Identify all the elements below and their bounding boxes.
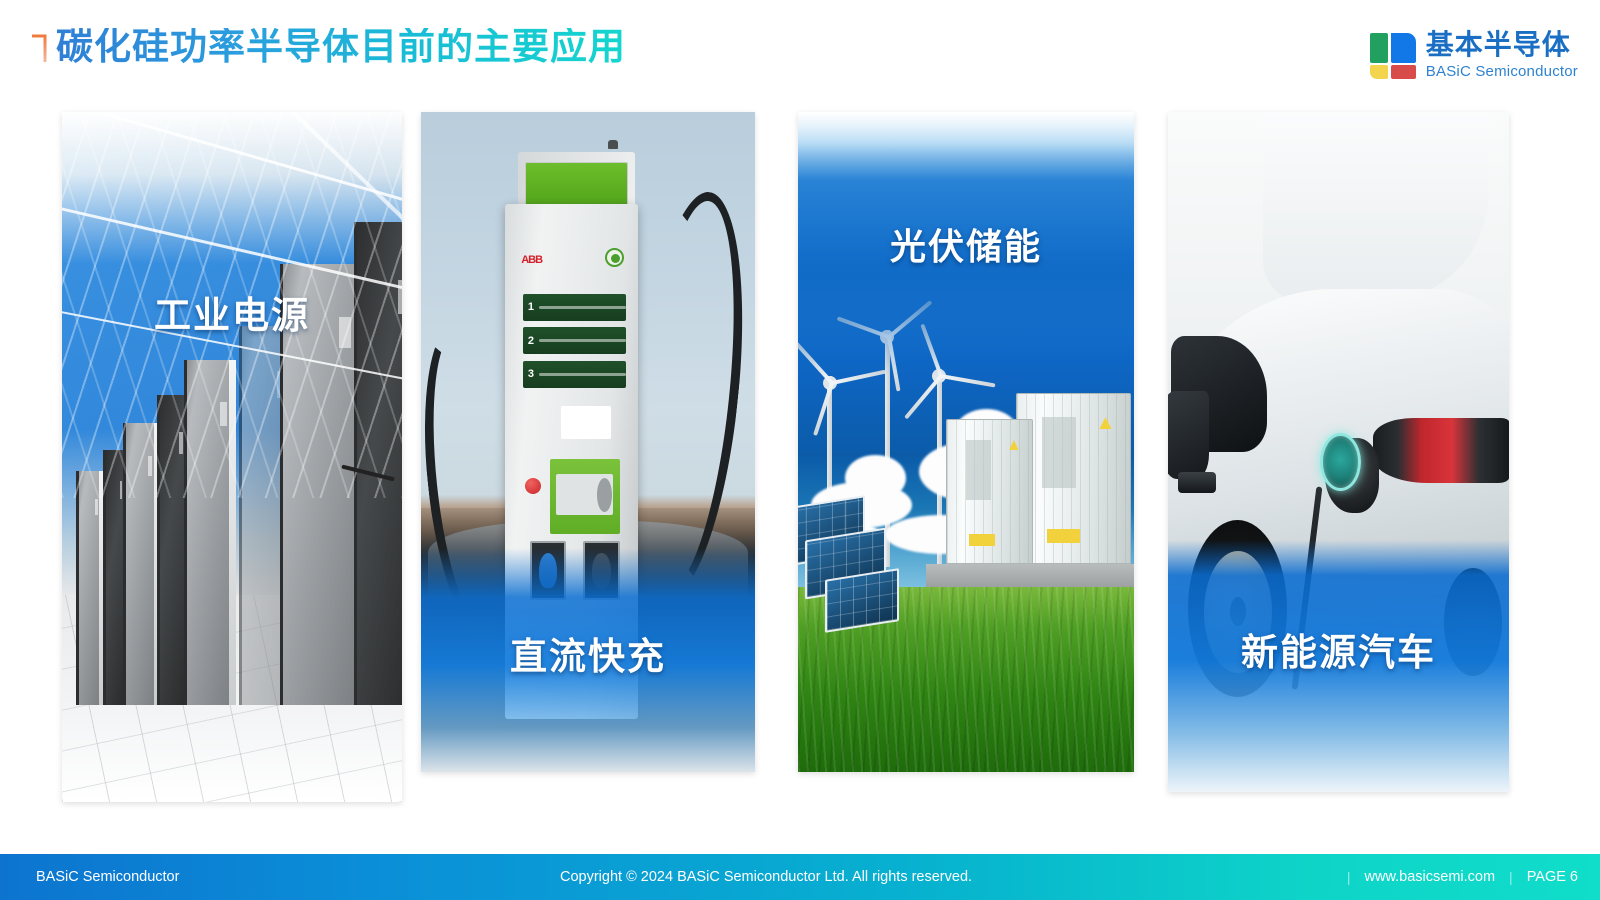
logo-name-en: BASiC Semiconductor (1426, 63, 1578, 81)
panel-industrial-power[interactable]: 工业电源 (62, 112, 402, 802)
industrial-power-scene (62, 112, 402, 802)
slide-footer: BASiC Semiconductor Copyright © 2024 BAS… (0, 854, 1600, 900)
emergency-stop-button[interactable] (525, 478, 541, 494)
charge-plug-icon (1320, 433, 1361, 491)
footer-separator-left: | (1347, 869, 1351, 885)
panel-dc-fast-charging[interactable]: ABB 1 2 3 直流快充 (421, 112, 755, 772)
footer-copyright: Copyright © 2024 BASiC Semiconductor Ltd… (560, 869, 972, 885)
application-panels: 工业电源 ABB 1 2 (0, 112, 1600, 802)
footer-separator-right: | (1509, 869, 1513, 885)
ev-charging-scene (1168, 112, 1509, 792)
logo-square-blue (1391, 33, 1416, 63)
footer-company: BASiC Semiconductor (36, 869, 179, 885)
charger-badge-icon (605, 248, 624, 267)
panel-pv-storage[interactable]: 光伏储能 (798, 112, 1134, 772)
footer-meta: | www.basicsemi.com | PAGE 6 (1347, 869, 1578, 885)
charger-brand-label: ABB (521, 254, 542, 266)
panel-caption: 工业电源 (62, 285, 402, 339)
panel-new-energy-vehicle[interactable]: 新能源汽车 (1168, 112, 1509, 792)
taillight (1373, 418, 1509, 483)
footer-website[interactable]: www.basicsemi.com (1365, 869, 1496, 885)
logo-text: 基本半导体 BASiC Semiconductor (1426, 30, 1578, 81)
slide-header: 碳化硅功率半导体目前的主要应用 基本半导体 BASiC Semiconducto… (0, 0, 1600, 108)
logo-mark-icon (1370, 31, 1416, 79)
charger-step-1: 1 (523, 294, 627, 321)
pv-storage-scene (798, 112, 1134, 772)
logo-square-green (1370, 33, 1388, 63)
footer-page-number: PAGE 6 (1527, 869, 1578, 885)
charger-step-3: 3 (523, 361, 627, 388)
logo-name-cn: 基本半导体 (1426, 30, 1578, 61)
panel-caption: 直流快充 (421, 626, 755, 680)
title-block: 碳化硅功率半导体目前的主要应用 (30, 28, 626, 67)
slide: 碳化硅功率半导体目前的主要应用 基本半导体 BASiC Semiconducto… (0, 0, 1600, 900)
quote-mark-icon (30, 34, 48, 64)
panel-caption: 光伏储能 (798, 218, 1134, 270)
panel-caption: 新能源汽车 (1168, 622, 1509, 676)
page-title: 碳化硅功率半导体目前的主要应用 (56, 28, 626, 67)
battery-container (946, 419, 1033, 564)
charger-payment-panel (550, 459, 620, 535)
logo-square-yellow (1370, 65, 1388, 79)
charger-step-2: 2 (523, 327, 627, 354)
logo-square-red (1391, 65, 1416, 79)
battery-container (1016, 393, 1130, 565)
company-logo: 基本半导体 BASiC Semiconductor (1370, 30, 1578, 81)
